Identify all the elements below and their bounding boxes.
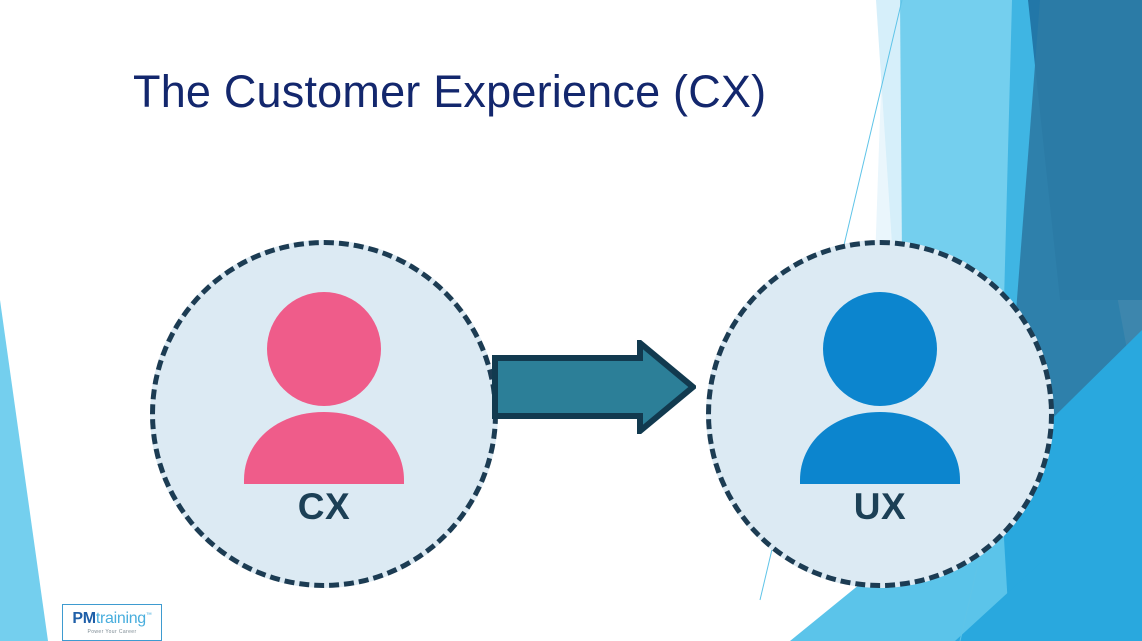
brand-logo-wordmark: PMtraining™ bbox=[72, 611, 151, 627]
decoration-shape-left-wedge bbox=[0, 300, 48, 641]
decoration-shape-deep-right bbox=[1028, 0, 1142, 300]
node-label-cx: CX bbox=[298, 488, 350, 525]
person-icon bbox=[229, 292, 419, 484]
concept-node-cx[interactable]: CX bbox=[150, 240, 498, 588]
person-icon bbox=[785, 292, 975, 484]
brand-logo-training: training bbox=[96, 610, 146, 627]
node-label-ux: UX bbox=[854, 488, 906, 525]
page-title: The Customer Experience (CX) bbox=[133, 66, 766, 118]
slide-canvas: The Customer Experience (CX) CX UX PMtra… bbox=[0, 0, 1142, 641]
concept-node-ux[interactable]: UX bbox=[706, 240, 1054, 588]
right-arrow-icon bbox=[492, 340, 696, 434]
brand-logo-tagline: Power Your Career bbox=[87, 629, 136, 635]
brand-logo-pm: PM bbox=[72, 610, 95, 627]
brand-logo: PMtraining™ Power Your Career bbox=[62, 604, 162, 641]
brand-logo-trademark: ™ bbox=[146, 612, 152, 618]
